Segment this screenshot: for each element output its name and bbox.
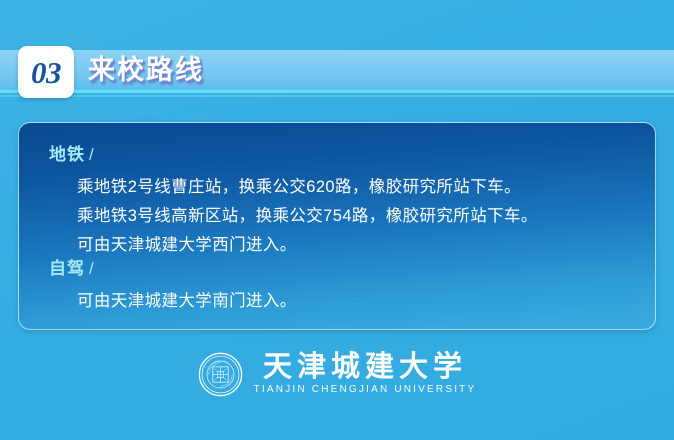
route-line: 乘地铁2号线曹庄站，换乘公交620路，橡胶研究所站下车。 — [77, 173, 655, 202]
section-driving-heading: 自驾/ — [49, 257, 655, 281]
university-name-block: 天津城建大学 TIANJIN CHENGJIAN UNIVERSITY — [254, 351, 477, 397]
section-metro-heading-label: 地铁 — [49, 145, 85, 164]
route-info-panel: 地铁/ 乘地铁2号线曹庄站，换乘公交620路，橡胶研究所站下车。 乘地铁3号线高… — [18, 122, 656, 330]
section-metro: 地铁/ 乘地铁2号线曹庄站，换乘公交620路，橡胶研究所站下车。 乘地铁3号线高… — [19, 143, 655, 260]
section-driving-heading-slash: / — [85, 259, 95, 278]
section-number-text: 03 — [31, 57, 61, 88]
route-line: 乘地铁3号线高新区站，换乘公交754路，橡胶研究所站下车。 — [77, 202, 655, 231]
section-metro-heading: 地铁/ — [49, 143, 655, 167]
section-driving-lines: 可由天津城建大学南门进入。 — [77, 287, 655, 316]
section-number-badge: 03 — [18, 46, 74, 98]
section-metro-lines: 乘地铁2号线曹庄站，换乘公交620路，橡胶研究所站下车。 乘地铁3号线高新区站，… — [77, 173, 655, 260]
route-line: 可由天津城建大学南门进入。 — [77, 287, 655, 316]
page-title: 来校路线 — [88, 55, 204, 85]
page-header: 03 来校路线 — [0, 46, 674, 94]
section-driving-heading-label: 自驾 — [49, 259, 85, 278]
university-name-en: TIANJIN CHENGJIAN UNIVERSITY — [254, 383, 477, 397]
header-accent-rule-secondary — [0, 95, 674, 97]
university-logo: 天津城建大学 TIANJIN CHENGJIAN UNIVERSITY — [0, 345, 674, 403]
university-name-cn: 天津城建大学 — [263, 351, 467, 383]
section-metro-heading-slash: / — [85, 145, 95, 164]
university-seal-icon — [198, 352, 243, 397]
section-driving: 自驾/ 可由天津城建大学南门进入。 — [19, 257, 655, 316]
header-accent-rule — [0, 90, 674, 93]
route-line: 可由天津城建大学西门进入。 — [77, 231, 655, 260]
